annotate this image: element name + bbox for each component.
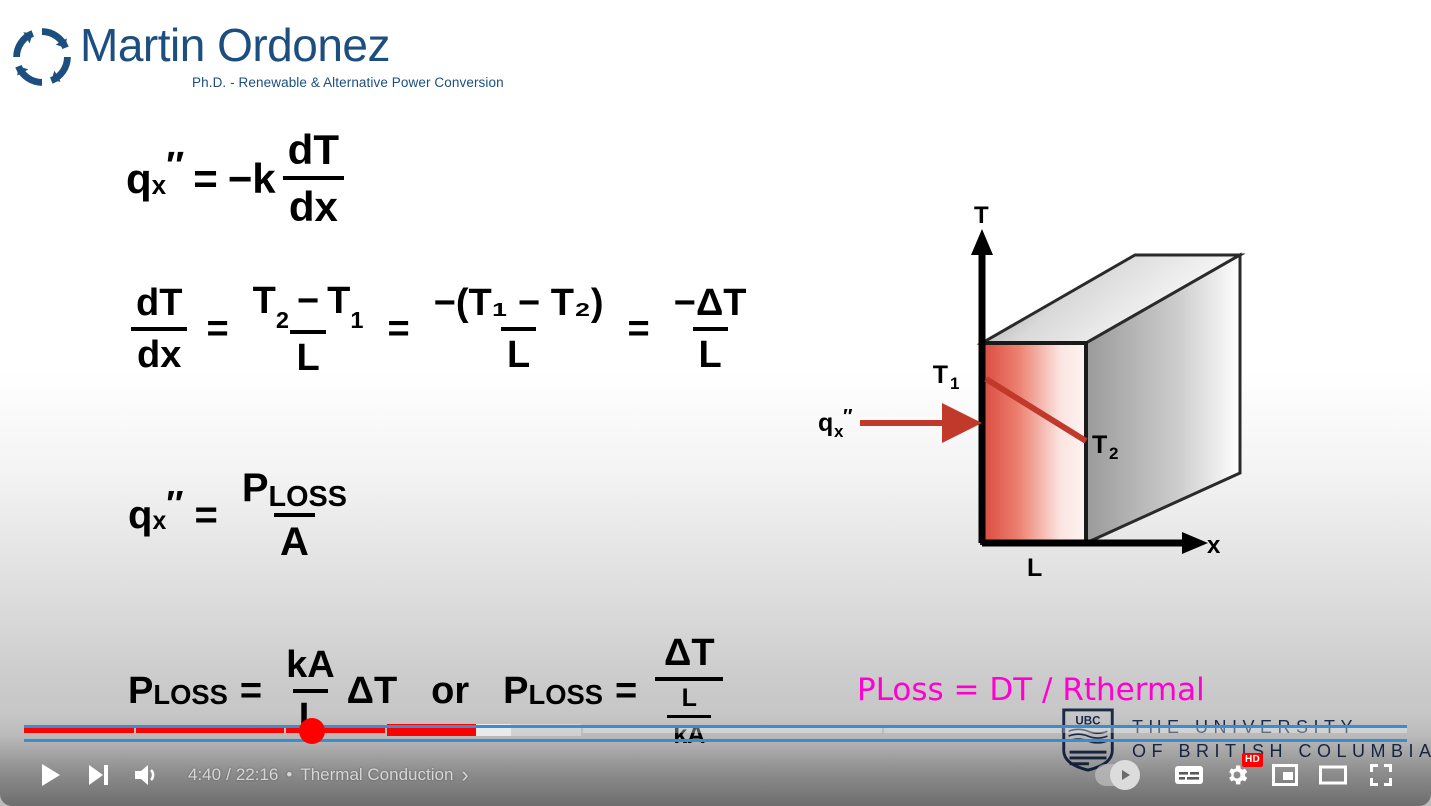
eq1-q: q xyxy=(126,155,152,203)
circular-recycle-arrows-icon xyxy=(8,26,76,88)
eq1-equals: = xyxy=(193,155,218,203)
label-t1-sub: 1 xyxy=(950,374,959,393)
eq1-prime: ″ xyxy=(166,145,183,188)
time-separator: / xyxy=(226,765,231,785)
logo-text-block: Martin Ordonez xyxy=(80,22,390,68)
subtitles-icon xyxy=(1174,764,1204,786)
label-t2-sub: 2 xyxy=(1109,444,1118,463)
box-front-face xyxy=(982,343,1086,543)
eq1-minus-k: −k xyxy=(228,155,276,203)
scrubber-handle[interactable] xyxy=(299,718,325,744)
eq3-q: q xyxy=(128,493,152,538)
ink-annotation: PLoss = DT / Rthermal xyxy=(857,672,1205,708)
label-t1: T xyxy=(933,361,948,389)
play-button[interactable] xyxy=(26,751,74,799)
eq3-fraction: PLOSS A xyxy=(236,466,353,565)
eq3-prime: ″ xyxy=(166,483,182,525)
eq3-denominator: A xyxy=(274,513,315,565)
eq2-den-dx: dx xyxy=(131,327,187,377)
autoplay-toggle-knob xyxy=(1110,760,1140,790)
eq2-num-t2t1: T2−T1 xyxy=(247,280,370,330)
heat-flux-arrow-head xyxy=(942,403,982,443)
current-time: 4:40 xyxy=(188,765,221,785)
chapter-segment[interactable] xyxy=(583,727,882,733)
eq2-equals-c: = xyxy=(628,308,650,351)
thermal-conduction-diagram: T x T 1 T 2 q x ″ L xyxy=(790,195,1260,595)
eq3-equals: = xyxy=(194,493,217,538)
eq2-den-l-c: L xyxy=(693,327,728,377)
fullscreen-icon xyxy=(1368,762,1394,788)
player-controls-overlay: 4:40 / 22:16 • Thermal Conduction › xyxy=(0,714,1431,806)
eq1-numerator: dT xyxy=(282,126,345,176)
eq2-num-neg: −(T₁ − T₂) xyxy=(428,282,610,327)
subtitles-button[interactable] xyxy=(1165,751,1213,799)
eq4-p-left: P xyxy=(128,670,153,713)
eq2-t-b: T xyxy=(327,280,350,322)
eq1-sub-x: x xyxy=(152,170,166,201)
label-flux-q: q xyxy=(818,409,833,437)
equation-temperature-gradient: dT dx = T2−T1 L = −(T₁ − T₂) L = −ΔT L xyxy=(124,280,758,380)
equation-fouriers-law: qx″ = −k dT dx xyxy=(126,126,351,231)
logo-subtitle: Ph.D. - Renewable & Alternative Power Co… xyxy=(192,75,504,90)
volume-button[interactable] xyxy=(122,751,170,799)
label-t2: T xyxy=(1092,431,1107,459)
theater-mode-icon xyxy=(1319,764,1347,786)
eq4-num-deltat: ΔT xyxy=(658,632,721,677)
youtube-video-player[interactable]: Martin Ordonez Ph.D. - Renewable & Alter… xyxy=(0,0,1431,806)
eq2-fraction-t2t1: T2−T1 L xyxy=(247,280,370,380)
eq4-p-left-sub: LOSS xyxy=(153,679,228,711)
eq2-t-a: T xyxy=(253,280,276,322)
label-flux-prime: ″ xyxy=(843,406,853,428)
eq4-nested-num: L xyxy=(676,684,703,715)
autoplay-toggle[interactable] xyxy=(1095,764,1139,786)
eq2-den-l-b: L xyxy=(501,327,536,377)
logo-title: Martin Ordonez xyxy=(80,22,390,68)
eq4-nested-fraction: L kA xyxy=(667,684,711,750)
total-time: 22:16 xyxy=(236,765,279,785)
eq2-num-deltat: −ΔT xyxy=(668,282,753,327)
x-axis-arrow xyxy=(1182,532,1208,554)
label-length-l: L xyxy=(1027,554,1042,582)
eq4-p-right-sub: LOSS xyxy=(529,679,604,711)
eq2-equals-a: = xyxy=(206,308,228,351)
eq2-fraction-dtdx: dT dx xyxy=(130,282,188,377)
fullscreen-button[interactable] xyxy=(1357,751,1405,799)
eq2-t-a-sub: 2 xyxy=(276,307,289,333)
time-and-chapter-info: 4:40 / 22:16 • Thermal Conduction › xyxy=(188,764,469,786)
eq4-delta-t: ΔT xyxy=(347,670,398,713)
eq4-den-nested: L kA xyxy=(655,677,723,750)
eq2-minus-a: − xyxy=(297,280,319,322)
eq2-equals-b: = xyxy=(388,308,410,351)
miniplayer-button[interactable] xyxy=(1261,751,1309,799)
eq4-or: or xyxy=(431,670,469,713)
chapter-segment[interactable] xyxy=(24,727,134,733)
axis-label-t: T xyxy=(974,202,989,229)
eq2-den-l-a: L xyxy=(290,330,325,380)
chapter-chevron-icon[interactable]: › xyxy=(461,764,468,786)
eq2-fraction-deltat: −ΔT L xyxy=(668,282,753,377)
eq3-sub-x: x xyxy=(152,508,166,536)
quality-badge: HD xyxy=(1242,753,1263,767)
eq2-t-b-sub: 1 xyxy=(350,307,363,333)
eq3-p-sub: LOSS xyxy=(269,481,347,513)
eq3-p: P xyxy=(242,466,269,510)
time-chapter-bullet: • xyxy=(286,765,292,785)
chapter-title[interactable]: Thermal Conduction xyxy=(300,765,453,785)
equation-flux-ploss-area: qx″ = PLOSS A xyxy=(128,466,359,565)
miniplayer-icon xyxy=(1272,764,1298,786)
eq4-num-ka: kA xyxy=(280,644,341,689)
eq4-equals-left: = xyxy=(240,670,262,713)
eq1-fraction: dT dx xyxy=(282,126,345,231)
eq2-num-dt: dT xyxy=(130,282,188,327)
chapter-segment[interactable] xyxy=(387,724,581,736)
eq4-equals-right: = xyxy=(615,670,637,713)
right-controls-group: HD xyxy=(1095,751,1405,799)
eq4-p-right: P xyxy=(503,670,528,713)
chapter-played-fill xyxy=(387,724,476,736)
left-controls-group: 4:40 / 22:16 • Thermal Conduction › xyxy=(26,751,469,799)
settings-button[interactable]: HD xyxy=(1213,751,1261,799)
chapter-segment[interactable] xyxy=(1063,727,1407,733)
diagram-svg: T x T 1 T 2 q x ″ L xyxy=(790,195,1260,595)
theater-mode-button[interactable] xyxy=(1309,751,1357,799)
chapter-segment[interactable] xyxy=(884,727,1060,733)
eq2-fraction-neg: −(T₁ − T₂) L xyxy=(428,282,610,377)
chapter-segment[interactable] xyxy=(136,727,285,733)
video-frame: Martin Ordonez Ph.D. - Renewable & Alter… xyxy=(0,0,1431,806)
player-bottom-bar: 4:40 / 22:16 • Thermal Conduction › xyxy=(0,744,1431,806)
t-axis-arrow xyxy=(971,229,993,255)
chapter-played-fill xyxy=(24,727,134,733)
eq3-numerator: PLOSS xyxy=(236,466,353,513)
progress-bar[interactable] xyxy=(24,724,1407,736)
chapter-played-fill xyxy=(136,727,285,733)
chapter-segments[interactable] xyxy=(24,727,1407,733)
axis-label-x: x xyxy=(1207,532,1221,559)
eq1-denominator: dx xyxy=(283,176,344,231)
next-video-button[interactable] xyxy=(74,751,122,799)
autoplay-play-icon xyxy=(1118,768,1132,782)
